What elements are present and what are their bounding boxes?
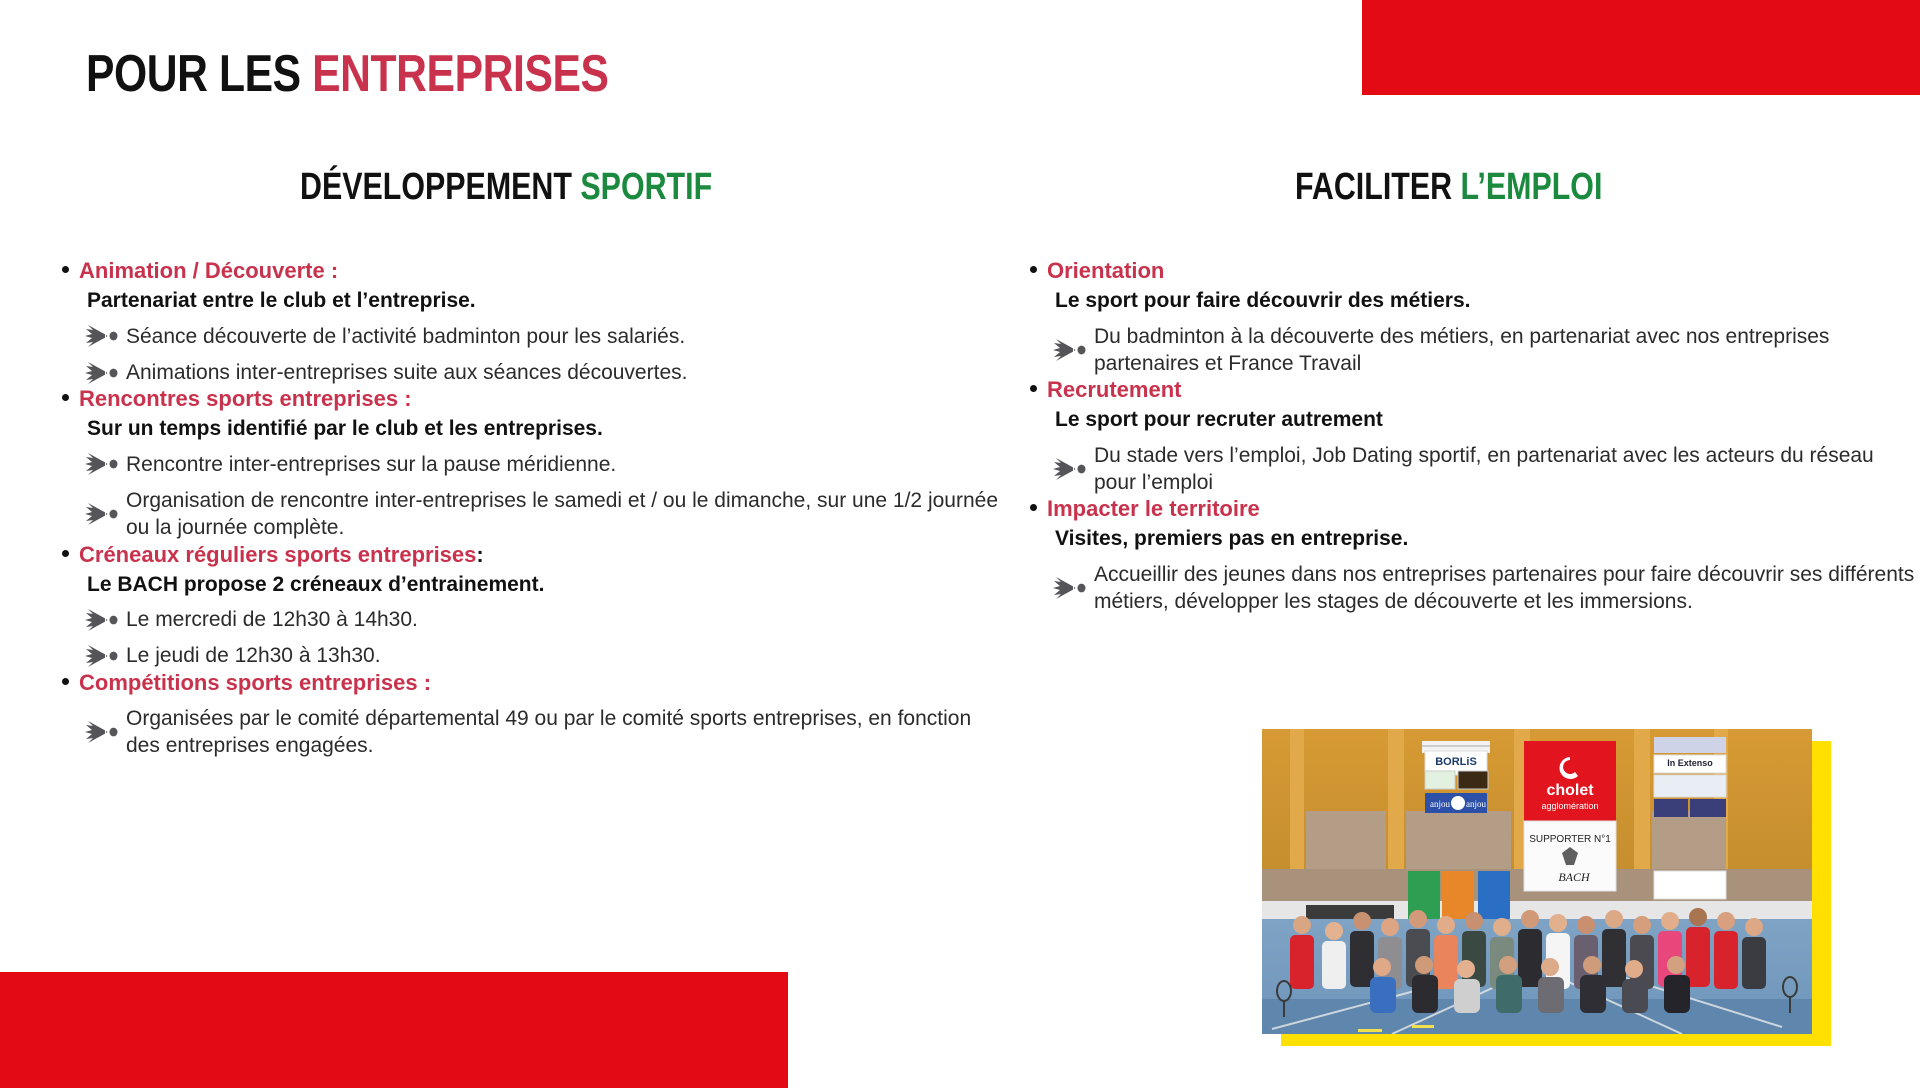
detail-item: Animations inter-entreprises suite aux s… bbox=[84, 359, 1002, 386]
column-header-left-part1: DÉVELOPPEMENT bbox=[300, 166, 580, 208]
topic-heading: Orientation bbox=[1030, 258, 1920, 284]
bullet-dot-icon bbox=[1030, 385, 1037, 392]
topic-heading: Compétitions sports entreprises : bbox=[62, 670, 1002, 696]
detail-text: Organisation de rencontre inter-entrepri… bbox=[126, 487, 1002, 542]
topic-subtitle: Visites, premiers pas en entreprise. bbox=[1055, 526, 1920, 552]
column-header-right-part1: FACILITER bbox=[1295, 166, 1461, 208]
topic-heading-text: Compétitions sports entreprises : bbox=[79, 670, 431, 696]
topic-block: Compétitions sports entreprises :Organis… bbox=[62, 670, 1002, 760]
detail-item: Séance découverte de l’activité badminto… bbox=[84, 323, 1002, 350]
detail-item: Accueillir des jeunes dans nos entrepris… bbox=[1052, 561, 1920, 616]
shuttlecock-icon bbox=[84, 608, 118, 632]
shuttlecock-icon bbox=[84, 361, 118, 385]
svg-text:anjou: anjou bbox=[1466, 799, 1486, 809]
topic-heading-colon: : bbox=[476, 542, 483, 568]
topic-heading-text: Animation / Découverte : bbox=[79, 258, 338, 284]
column-header-left-part2: SPORTIF bbox=[580, 166, 712, 208]
detail-text: Rencontre inter-entreprises sur la pause… bbox=[126, 451, 1002, 478]
page-title: POUR LES ENTREPRISES bbox=[86, 48, 609, 100]
bullet-dot-icon bbox=[62, 678, 69, 685]
page-title-part1: POUR LES bbox=[86, 45, 312, 103]
detail-item: Rencontre inter-entreprises sur la pause… bbox=[84, 451, 1002, 478]
bullet-dot-icon bbox=[62, 550, 69, 557]
detail-item: Du badminton à la découverte des métiers… bbox=[1052, 323, 1920, 378]
bullet-dot-icon bbox=[1030, 266, 1037, 273]
column-header-right-part2: L’EMPLOI bbox=[1461, 166, 1603, 208]
detail-item: Le jeudi de 12h30 à 13h30. bbox=[84, 642, 1002, 669]
topic-subtitle: Le sport pour faire découvrir des métier… bbox=[1055, 288, 1920, 314]
topic-subtitle: Le BACH propose 2 créneaux d’entrainemen… bbox=[87, 572, 1002, 598]
topic-block: Rencontres sports entreprises :Sur un te… bbox=[62, 386, 1002, 541]
detail-text: Accueillir des jeunes dans nos entrepris… bbox=[1094, 561, 1920, 616]
detail-text: Le jeudi de 12h30 à 13h30. bbox=[126, 642, 1002, 669]
detail-item: Le mercredi de 12h30 à 14h30. bbox=[84, 606, 1002, 633]
detail-text: Le mercredi de 12h30 à 14h30. bbox=[126, 606, 1002, 633]
group-photo: BORLiS anjou anjou cholet agglomération … bbox=[1262, 729, 1812, 1034]
shuttlecock-icon bbox=[84, 502, 118, 526]
topic-block: RecrutementLe sport pour recruter autrem… bbox=[1030, 377, 1920, 496]
content-column-right: OrientationLe sport pour faire découvrir… bbox=[1030, 258, 1920, 615]
svg-text:BACH: BACH bbox=[1558, 870, 1591, 884]
topic-block: OrientationLe sport pour faire découvrir… bbox=[1030, 258, 1920, 377]
topic-block: Impacter le territoireVisites, premiers … bbox=[1030, 496, 1920, 615]
shuttlecock-icon bbox=[84, 324, 118, 348]
shuttlecock-icon bbox=[84, 644, 118, 668]
bullet-dot-icon bbox=[62, 266, 69, 273]
svg-text:In Extenso: In Extenso bbox=[1667, 758, 1713, 768]
topic-heading: Créneaux réguliers sports entreprises : bbox=[62, 542, 1002, 568]
topic-block: Créneaux réguliers sports entreprises :L… bbox=[62, 542, 1002, 670]
shuttlecock-icon bbox=[84, 452, 118, 476]
decoration-red-block-top-right bbox=[1362, 0, 1920, 95]
shuttlecock-icon bbox=[84, 720, 118, 744]
detail-text: Organisées par le comité départemental 4… bbox=[126, 705, 1002, 760]
topic-block: Animation / Découverte :Partenariat entr… bbox=[62, 258, 1002, 386]
topic-heading-text: Recrutement bbox=[1047, 377, 1181, 403]
svg-text:agglomération: agglomération bbox=[1541, 801, 1598, 811]
shuttlecock-icon bbox=[1052, 338, 1086, 362]
photo-container: BORLiS anjou anjou cholet agglomération … bbox=[1262, 729, 1812, 1034]
svg-text:anjou: anjou bbox=[1430, 799, 1450, 809]
svg-text:BORLiS: BORLiS bbox=[1435, 756, 1477, 768]
topic-subtitle: Le sport pour recruter autrement bbox=[1055, 407, 1920, 433]
column-header-right: FACILITER L’EMPLOI bbox=[1295, 168, 1602, 206]
svg-text:cholet: cholet bbox=[1546, 782, 1594, 799]
svg-text:SUPPORTER N°1: SUPPORTER N°1 bbox=[1529, 834, 1611, 845]
topic-heading-text: Rencontres sports entreprises : bbox=[79, 386, 412, 412]
topic-heading-text: Créneaux réguliers sports entreprises bbox=[79, 542, 476, 568]
page-title-part2: ENTREPRISES bbox=[312, 45, 608, 103]
detail-text: Séance découverte de l’activité badminto… bbox=[126, 323, 1002, 350]
shuttlecock-icon bbox=[1052, 576, 1086, 600]
topic-heading: Recrutement bbox=[1030, 377, 1920, 403]
detail-text: Du badminton à la découverte des métiers… bbox=[1094, 323, 1920, 378]
column-header-left: DÉVELOPPEMENT SPORTIF bbox=[300, 168, 712, 206]
content-column-left: Animation / Découverte :Partenariat entr… bbox=[62, 258, 1002, 759]
detail-item: Du stade vers l’emploi, Job Dating sport… bbox=[1052, 442, 1920, 497]
bullet-dot-icon bbox=[1030, 504, 1037, 511]
shuttlecock-icon bbox=[1052, 457, 1086, 481]
topic-heading-text: Orientation bbox=[1047, 258, 1164, 284]
detail-text: Du stade vers l’emploi, Job Dating sport… bbox=[1094, 442, 1920, 497]
detail-item: Organisation de rencontre inter-entrepri… bbox=[84, 487, 1002, 542]
bullet-dot-icon bbox=[62, 394, 69, 401]
topic-subtitle: Partenariat entre le club et l’entrepris… bbox=[87, 288, 1002, 314]
decoration-red-block-bottom-left bbox=[0, 972, 788, 1088]
topic-heading: Rencontres sports entreprises : bbox=[62, 386, 1002, 412]
topic-heading-text: Impacter le territoire bbox=[1047, 496, 1260, 522]
group-photo-illustration: BORLiS anjou anjou cholet agglomération … bbox=[1262, 729, 1812, 1034]
detail-text: Animations inter-entreprises suite aux s… bbox=[126, 359, 1002, 386]
topic-heading: Impacter le territoire bbox=[1030, 496, 1920, 522]
topic-heading: Animation / Découverte : bbox=[62, 258, 1002, 284]
detail-item: Organisées par le comité départemental 4… bbox=[84, 705, 1002, 760]
topic-subtitle: Sur un temps identifié par le club et le… bbox=[87, 416, 1002, 442]
